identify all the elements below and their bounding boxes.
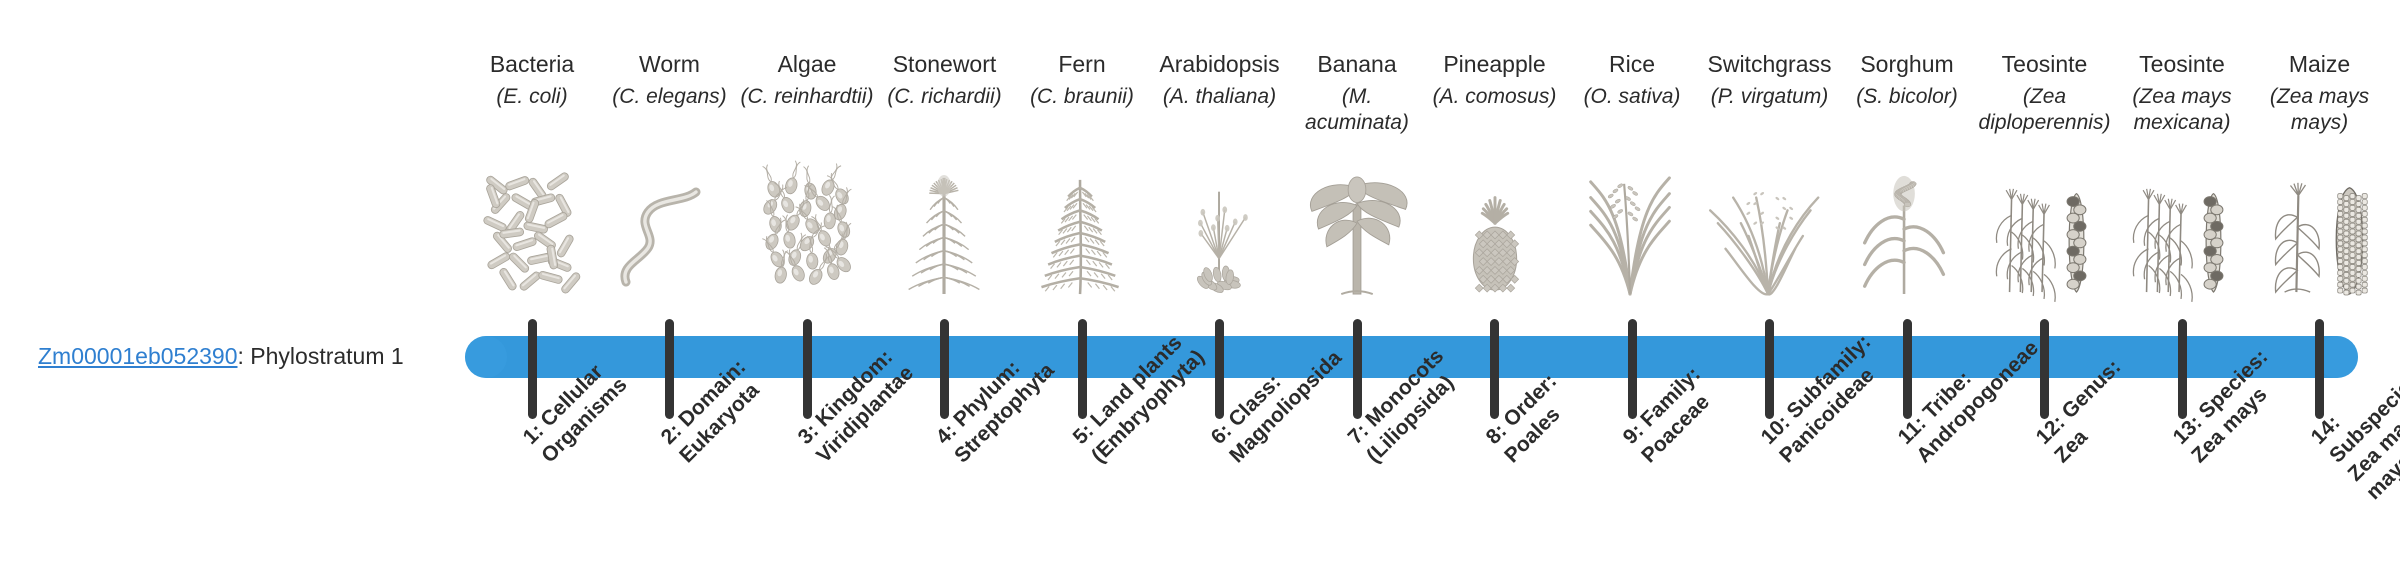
phylostratum-tick-7[interactable] [1353,319,1362,419]
species-column-rice-9: Rice(O. sativa) [1563,50,1701,136]
switchgrass-icon [1701,168,1839,296]
species-scientific-name: (C. reinhardtii) [738,84,876,136]
species-scientific-name: (C. richardii) [876,84,1014,136]
species-scientific-name: (C. elegans) [601,84,739,136]
phylostratum-tick-1[interactable] [528,319,537,419]
phylostratum-tick-12[interactable] [2040,319,2049,419]
species-column-teosinte-12: Teosinte(Zea diploperennis) [1976,50,2114,136]
stonewort-whorl-icon [876,168,1014,296]
species-common-name: Teosinte [1976,50,2114,78]
phylostratum-tick-8[interactable] [1490,319,1499,419]
banana-plant-icon [1288,168,1426,296]
species-column-maize-14: Maize(Zea mays mays) [2251,50,2389,136]
species-column-sorghum-11: Sorghum(S. bicolor) [1838,50,1976,136]
fern-frond-icon [1013,168,1151,296]
species-scientific-name: (A. comosus) [1426,84,1564,136]
phylostratum-tick-10[interactable] [1765,319,1774,419]
species-column-stonewort-4: Stonewort(C. richardii) [876,50,1014,136]
species-column-arabidopsis-6: Arabidopsis(A. thaliana) [1151,50,1289,136]
species-common-name: Switchgrass [1701,50,1839,78]
nematode-worm-icon [601,168,739,296]
species-scientific-name: (A. thaliana) [1151,84,1289,136]
species-column-pineapple-8: Pineapple(A. comosus) [1426,50,1564,136]
arabidopsis-rosette-icon [1151,168,1289,296]
species-scientific-name: (E. coli) [463,84,601,136]
species-column-switchgrass-10: Switchgrass(P. virgatum) [1701,50,1839,136]
species-common-name: Sorghum [1838,50,1976,78]
species-common-name: Fern [1013,50,1151,78]
teosinte-plant-ear-icon [2113,168,2251,296]
rice-plant-icon [1563,168,1701,296]
maize-plant-ear-icon [2251,168,2389,296]
species-common-name: Arabidopsis [1151,50,1289,78]
species-column-worm-2: Worm(C. elegans) [601,50,739,136]
species-common-name: Stonewort [876,50,1014,78]
species-scientific-name: (Zea mays mexicana) [2113,84,2251,136]
phylostratum-tick-14[interactable] [2315,319,2324,419]
phylostratum-diagram: Zm00001eb052390: Phylostratum 1 Bacteria… [0,0,2400,580]
species-common-name: Rice [1563,50,1701,78]
species-common-name: Worm [601,50,739,78]
species-common-name: Teosinte [2113,50,2251,78]
sorghum-panicle-icon [1838,168,1976,296]
species-scientific-name: (M. acuminata) [1288,84,1426,136]
species-common-name: Pineapple [1426,50,1564,78]
species-scientific-name: (C. braunii) [1013,84,1151,136]
species-column-fern-5: Fern(C. braunii) [1013,50,1151,136]
species-scientific-name: (Zea mays mays) [2251,84,2389,136]
species-column-teosinte-13: Teosinte(Zea mays mexicana) [2113,50,2251,136]
phylostratum-tick-2[interactable] [665,319,674,419]
species-column-bacteria-1: Bacteria(E. coli) [463,50,601,136]
species-column-banana-7: Banana(M. acuminata) [1288,50,1426,136]
species-scientific-name: (O. sativa) [1563,84,1701,136]
phylostratum-tick-6[interactable] [1215,319,1224,419]
species-column-algae-3: Algae(C. reinhardtii) [738,50,876,136]
bar-left-cap [465,336,507,378]
phylostratum-tick-9[interactable] [1628,319,1637,419]
phylostratum-tick-13[interactable] [2178,319,2187,419]
phylostratum-tick-4[interactable] [940,319,949,419]
species-common-name: Algae [738,50,876,78]
phylostratum-tick-5[interactable] [1078,319,1087,419]
teosinte-plant-ear-icon [1976,168,2114,296]
pineapple-icon [1426,168,1564,296]
species-common-name: Banana [1288,50,1426,78]
algae-cells-icon [738,168,876,296]
species-common-name: Bacteria [463,50,601,78]
bacteria-rods-icon [463,168,601,296]
species-scientific-name: (S. bicolor) [1838,84,1976,136]
phylostratum-tick-3[interactable] [803,319,812,419]
phylostratum-tick-11[interactable] [1903,319,1912,419]
species-scientific-name: (Zea diploperennis) [1976,84,2114,136]
species-scientific-name: (P. virgatum) [1701,84,1839,136]
species-common-name: Maize [2251,50,2389,78]
